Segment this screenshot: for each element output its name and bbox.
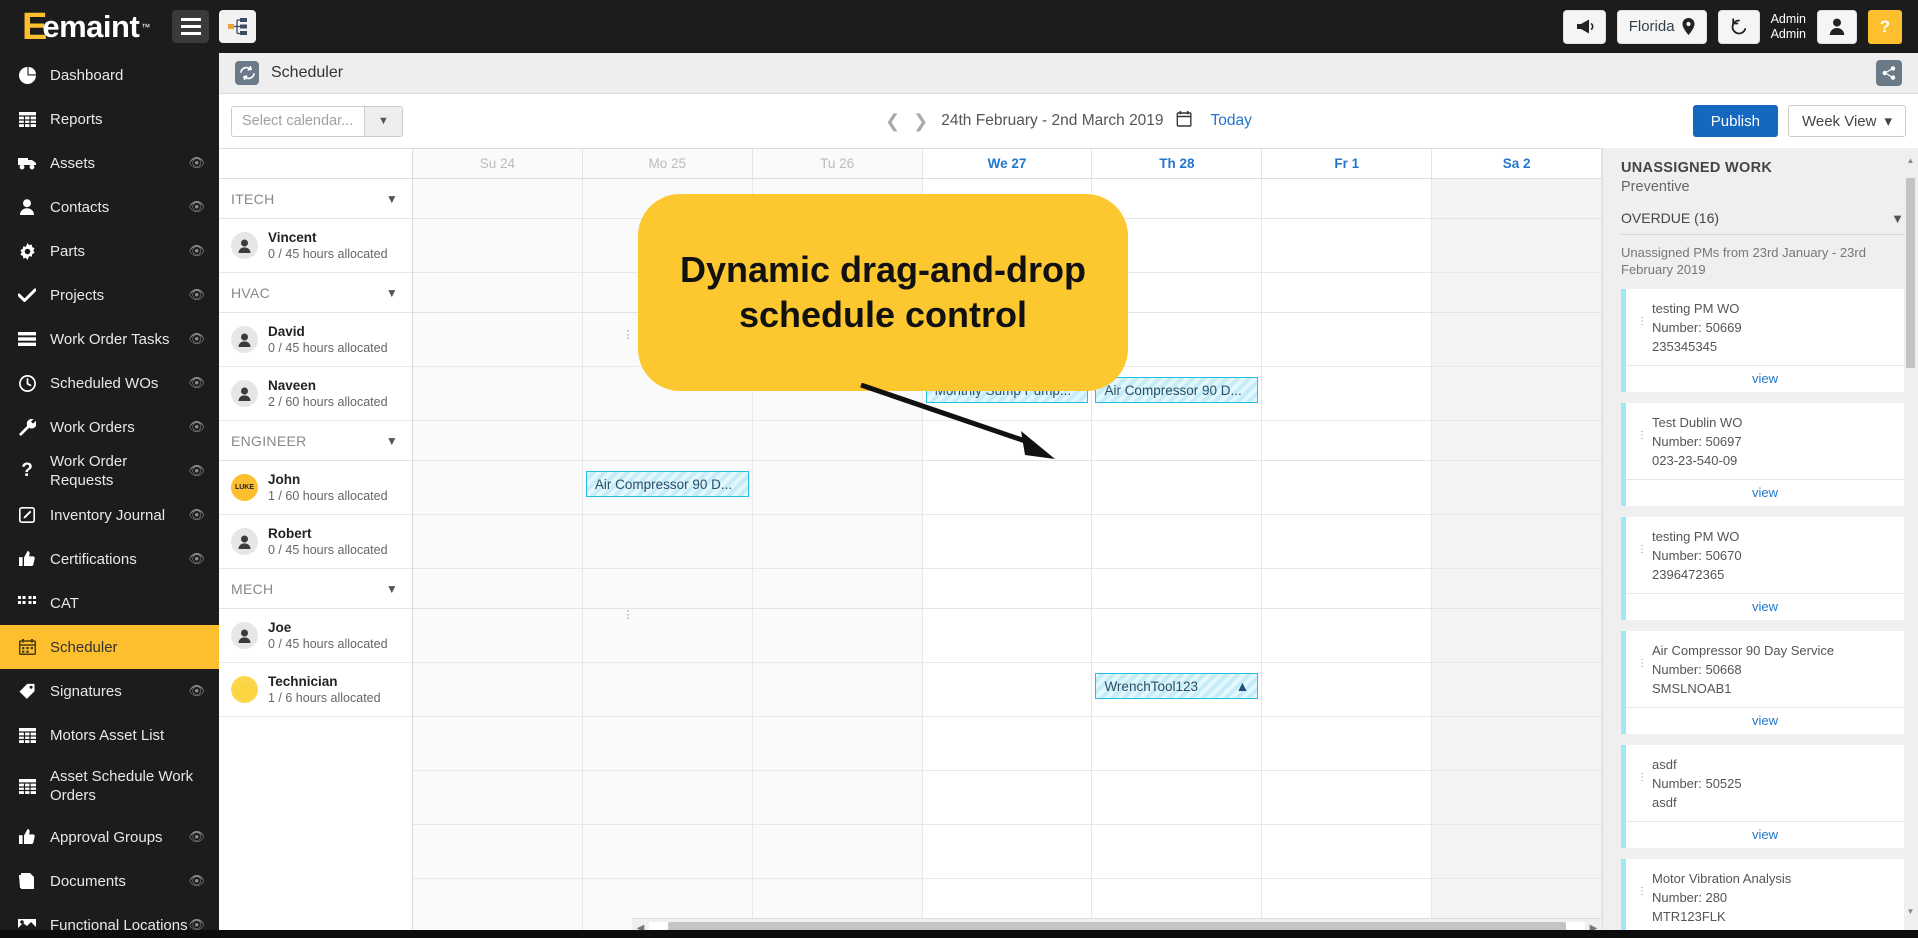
work-order-card[interactable]: ⋮ asdf Number: 50525 asdf view: [1621, 745, 1904, 848]
sidebar-item-work-order-tasks[interactable]: Work Order Tasks 👁: [0, 317, 219, 361]
grid-row-robert: [413, 515, 1602, 569]
event-chip-air-compressor-90d[interactable]: Air Compressor 90 D...: [586, 471, 749, 497]
resource-name: Joe: [268, 620, 388, 636]
grid-cell[interactable]: [1432, 219, 1602, 272]
work-order-card[interactable]: ⋮ Test Dublin WO Number: 50697 023-23-54…: [1621, 403, 1904, 506]
group-label: ENGINEER: [231, 433, 307, 449]
chevron-down-icon: ▼: [386, 434, 398, 448]
today-button[interactable]: Today: [1211, 112, 1252, 130]
grid-cell[interactable]: WrenchTool123 ▲: [1092, 663, 1262, 716]
grid-cell[interactable]: [583, 569, 753, 608]
sidebar-label: Documents: [50, 872, 188, 891]
sidebar-label: Scheduler: [50, 638, 205, 657]
sitemap-glyph: [228, 18, 248, 36]
sidebar-item-signatures[interactable]: Signatures 👁: [0, 669, 219, 713]
number-prefix: Number:: [1652, 890, 1705, 905]
grid-cell[interactable]: [583, 771, 753, 824]
grid-cell[interactable]: [413, 179, 583, 218]
grid-row-john: Air Compressor 90 D...: [413, 461, 1602, 515]
avatar: [231, 622, 258, 649]
event-title: Air Compressor 90 D...: [595, 477, 732, 492]
sidebar-navigation: Dashboard Reports Assets 👁 Contacts 👁 Pa…: [0, 53, 219, 938]
grid-cell[interactable]: [1092, 461, 1262, 514]
work-order-ref: SMSLNOAB1: [1652, 679, 1894, 698]
grid-cell[interactable]: [1262, 421, 1432, 460]
triangle-down-icon[interactable]: ▼: [1906, 907, 1915, 916]
visibility-eye-icon[interactable]: 👁: [188, 331, 205, 347]
location-selector[interactable]: Florida: [1617, 10, 1707, 44]
sidebar-label: Work Order Tasks: [50, 330, 188, 349]
work-order-card[interactable]: ⋮ testing PM WO Number: 50670 2396472365…: [1621, 517, 1904, 620]
grid-cell[interactable]: [1262, 179, 1432, 218]
grid-cell[interactable]: [413, 609, 583, 662]
documents-icon: [14, 873, 40, 889]
grid-cell[interactable]: [583, 825, 753, 878]
grid-cell[interactable]: [1432, 771, 1602, 824]
user-avatar-button[interactable]: [1817, 10, 1857, 44]
bottom-strip: [0, 930, 1918, 938]
sidebar-label: Asset Schedule Work Orders: [50, 767, 205, 805]
unassigned-work-inner: UNASSIGNED WORK Preventive OVERDUE (16) …: [1603, 148, 1918, 938]
grid-cell[interactable]: [1432, 663, 1602, 716]
page-title: Scheduler: [271, 64, 343, 82]
chevron-right-icon[interactable]: ❯: [913, 111, 928, 132]
grid-cell[interactable]: [1092, 569, 1262, 608]
grid-cell[interactable]: [1092, 515, 1262, 568]
visibility-eye-icon[interactable]: 👁: [188, 829, 205, 845]
grid-cell[interactable]: [923, 609, 1093, 662]
grid-cell[interactable]: [1262, 825, 1432, 878]
resource-name: Naveen: [268, 378, 388, 394]
resource-row-naveen[interactable]: Naveen 2 / 60 hours allocated: [219, 367, 412, 421]
resource-group-mech[interactable]: MECH ▼: [219, 569, 412, 609]
avatar: [231, 232, 258, 259]
overdue-label: OVERDUE (16): [1621, 210, 1719, 226]
view-link[interactable]: view: [1626, 479, 1904, 506]
drag-handle-icon[interactable]: ⋮: [1637, 776, 1647, 780]
number-value: 50669: [1705, 320, 1741, 335]
event-chip-wrenchtool123[interactable]: WrenchTool123 ▲: [1095, 673, 1258, 699]
unassigned-work-panel: UNASSIGNED WORK Preventive OVERDUE (16) …: [1602, 148, 1918, 938]
grid-row-empty: [413, 771, 1602, 825]
date-range-label: 24th February - 2nd March 2019: [941, 112, 1163, 130]
avatar: [231, 326, 258, 353]
warning-triangle-icon: ▲: [1235, 678, 1249, 694]
user-last-name: Admin: [1771, 27, 1806, 42]
unassigned-work-title: UNASSIGNED WORK: [1621, 160, 1904, 176]
grid-cell[interactable]: [413, 313, 583, 366]
help-button[interactable]: ?: [1868, 10, 1902, 44]
day-header-we27: We 27: [923, 149, 1093, 178]
number-value: 50668: [1705, 662, 1741, 677]
visibility-eye-icon[interactable]: 👁: [188, 873, 205, 889]
resource-row-robert[interactable]: Robert 0 / 45 hours allocated: [219, 515, 412, 569]
splitter-handle-mid[interactable]: ⋮: [625, 604, 630, 626]
app-logo[interactable]: Eemaint™: [0, 8, 150, 46]
sitemap-icon[interactable]: [219, 10, 256, 43]
avatar: [231, 528, 258, 555]
grid-cell[interactable]: [1432, 313, 1602, 366]
grid-cell[interactable]: [753, 717, 923, 770]
avatar: LUKE: [231, 474, 258, 501]
chevron-down-icon: ▼: [386, 286, 398, 300]
sidebar-item-work-order-requests[interactable]: ? Work Order Requests 👁: [0, 449, 219, 493]
drag-handle-icon[interactable]: ⋮: [1637, 434, 1647, 438]
table-icon: [14, 728, 40, 743]
resource-row-david[interactable]: David 0 / 45 hours allocated: [219, 313, 412, 367]
work-order-body: Air Compressor 90 Day Service Number: 50…: [1626, 631, 1904, 707]
sidebar-label: Contacts: [50, 198, 188, 217]
check-icon: [14, 288, 40, 302]
sidebar-label: Reports: [50, 110, 205, 129]
grid-cell[interactable]: [753, 663, 923, 716]
work-order-number: Number: 50669: [1652, 318, 1894, 337]
day-header-th28: Th 28: [1092, 149, 1262, 178]
grid-cell[interactable]: [1262, 313, 1432, 366]
work-order-body: asdf Number: 50525 asdf: [1626, 745, 1904, 821]
grid-cell[interactable]: [753, 515, 923, 568]
unassigned-work-subtitle: Preventive: [1621, 179, 1904, 195]
work-order-number: Number: 50670: [1652, 546, 1894, 565]
table-icon: [14, 112, 40, 127]
grid-cell[interactable]: [923, 771, 1093, 824]
number-value: 280: [1705, 890, 1727, 905]
hamburger-icon[interactable]: [172, 10, 209, 43]
resource-hours: 0 / 45 hours allocated: [268, 246, 388, 262]
number-prefix: Number:: [1652, 548, 1705, 563]
sidebar-item-certifications[interactable]: Certifications 👁: [0, 537, 219, 581]
grid-group-row-mech: [413, 569, 1602, 609]
grid-cell[interactable]: [923, 717, 1093, 770]
thumbs-up-icon: [14, 551, 40, 567]
grid-cell[interactable]: [1432, 273, 1602, 312]
grid-cell[interactable]: [413, 717, 583, 770]
number-prefix: Number:: [1652, 662, 1705, 677]
resource-name: Robert: [268, 526, 388, 542]
chevron-down-icon: ▼: [364, 107, 402, 136]
group-label: HVAC: [231, 285, 270, 301]
calendar-select-value: Select calendar...: [232, 107, 364, 136]
resource-row-technician[interactable]: Technician 1 / 6 hours allocated: [219, 663, 412, 717]
sidebar-label: Projects: [50, 286, 188, 305]
list-icon: [14, 332, 40, 346]
grid-cell[interactable]: [1432, 515, 1602, 568]
caret-down-icon: ▾: [1884, 112, 1892, 130]
resource-hours: 0 / 45 hours allocated: [268, 636, 388, 652]
number-prefix: Number:: [1652, 776, 1705, 791]
work-order-ref: 023-23-540-09: [1652, 451, 1894, 470]
group-label: ITECH: [231, 191, 275, 207]
grid-cell[interactable]: [1432, 569, 1602, 608]
wrench-icon: [14, 419, 40, 436]
resource-name: Vincent: [268, 230, 388, 246]
visibility-eye-icon[interactable]: 👁: [188, 243, 205, 259]
grid-cell[interactable]: [1262, 717, 1432, 770]
sidebar-item-work-orders[interactable]: Work Orders 👁: [0, 405, 219, 449]
scheduler-toolbar: Select calendar... ▼ ❮ ❯ 24th February -…: [219, 94, 1918, 148]
view-link[interactable]: view: [1626, 821, 1904, 848]
tag-icon: [14, 683, 40, 699]
grid-cell[interactable]: [1092, 771, 1262, 824]
visibility-eye-icon[interactable]: 👁: [188, 551, 205, 567]
resource-name: John: [268, 472, 388, 488]
grid-cell[interactable]: [413, 879, 583, 932]
number-prefix: Number:: [1652, 434, 1705, 449]
sidebar-label: Parts: [50, 242, 188, 261]
sidebar-label: Scheduled WOs: [50, 374, 188, 393]
grid-cell[interactable]: Air Compressor 90 D...: [583, 461, 753, 514]
grid-cell[interactable]: [1092, 421, 1262, 460]
visibility-eye-icon[interactable]: 👁: [188, 375, 205, 391]
grid-cell[interactable]: [1262, 609, 1432, 662]
sidebar-label: CAT: [50, 594, 205, 613]
grid-cell[interactable]: [1432, 179, 1602, 218]
grid-cell[interactable]: [413, 421, 583, 460]
share-icon[interactable]: [1876, 60, 1902, 86]
view-mode-dropdown[interactable]: Week View ▾: [1788, 105, 1906, 137]
work-order-body: Test Dublin WO Number: 50697 023-23-540-…: [1626, 403, 1904, 479]
grid-row-joe: [413, 609, 1602, 663]
grid-cell[interactable]: [923, 461, 1093, 514]
resource-group-hvac[interactable]: HVAC ▼: [219, 273, 412, 313]
grid-cell[interactable]: [583, 609, 753, 662]
grid-cell[interactable]: [1262, 219, 1432, 272]
view-link[interactable]: view: [1626, 707, 1904, 734]
callout-arrow: [859, 383, 1069, 463]
grid-cell[interactable]: [753, 825, 923, 878]
user-name-block: Admin Admin: [1771, 12, 1806, 42]
work-order-ref: 235345345: [1652, 337, 1894, 356]
sidebar-label: Approval Groups: [50, 828, 188, 847]
grid-cell[interactable]: [753, 569, 923, 608]
sidebar-item-dashboard[interactable]: Dashboard: [0, 53, 219, 97]
grid-dots-icon: [14, 596, 40, 610]
resource-group-itech[interactable]: ITECH ▼: [219, 179, 412, 219]
panel-scrollbar[interactable]: ▲ ▼: [1906, 156, 1915, 916]
work-order-number: Number: 50668: [1652, 660, 1894, 679]
location-label: Florida: [1629, 18, 1675, 35]
grid-cell[interactable]: [1262, 515, 1432, 568]
grid-cell[interactable]: [1262, 569, 1432, 608]
grid-cell[interactable]: [1262, 273, 1432, 312]
grid-cell[interactable]: [923, 825, 1093, 878]
resource-group-engineer[interactable]: ENGINEER ▼: [219, 421, 412, 461]
main-content: Scheduler Select calendar... ▼ ❮ ❯ 24th …: [219, 53, 1918, 938]
chevron-left-icon[interactable]: ❮: [885, 111, 900, 132]
drag-handle-icon[interactable]: ⋮: [1637, 662, 1647, 666]
resource-hours: 1 / 6 hours allocated: [268, 690, 381, 706]
day-header-sa2: Sa 2: [1432, 149, 1602, 178]
grid-cell[interactable]: [1092, 825, 1262, 878]
sidebar-label: Dashboard: [50, 66, 205, 85]
thumbs-up-icon: [14, 829, 40, 845]
day-header-fr1: Fr 1: [1262, 149, 1432, 178]
work-order-number: Number: 50697: [1652, 432, 1894, 451]
day-header-tu26: Tu 26: [753, 149, 923, 178]
work-order-ref: 2396472365: [1652, 565, 1894, 584]
callout-bubble: Dynamic drag-and-drop schedule control: [638, 194, 1128, 391]
grid-cell[interactable]: [413, 273, 583, 312]
splitter-handle-top[interactable]: ⋮: [625, 324, 630, 346]
logo-wordmark: emaint: [42, 11, 139, 42]
grid-cell[interactable]: [1432, 461, 1602, 514]
grid-cell[interactable]: [413, 219, 583, 272]
calendar-icon: [14, 639, 40, 655]
event-chip-air-compressor-90d[interactable]: Air Compressor 90 D...: [1095, 377, 1258, 403]
work-order-card[interactable]: ⋮ testing PM WO Number: 50669 235345345 …: [1621, 289, 1904, 392]
grid-cell[interactable]: [753, 461, 923, 514]
grid-cell[interactable]: [583, 421, 753, 460]
resource-row-vincent[interactable]: Vincent 0 / 45 hours allocated: [219, 219, 412, 273]
user-icon: [1829, 18, 1845, 35]
triangle-up-icon[interactable]: ▲: [1906, 156, 1915, 165]
megaphone-icon[interactable]: [1563, 10, 1606, 44]
grid-cell[interactable]: [1262, 663, 1432, 716]
person-icon: [14, 199, 40, 215]
scroll-thumb[interactable]: [1906, 178, 1915, 368]
chevron-down-icon: ▼: [386, 192, 398, 206]
grid-cell[interactable]: [1262, 771, 1432, 824]
sidebar-item-parts[interactable]: Parts 👁: [0, 229, 219, 273]
grid-cell[interactable]: [1432, 421, 1602, 460]
grid-cell[interactable]: [1262, 461, 1432, 514]
page-header: Scheduler: [219, 53, 1918, 94]
grid-cell[interactable]: [1092, 609, 1262, 662]
grid-cell[interactable]: [413, 825, 583, 878]
number-value: 50525: [1705, 776, 1741, 791]
avatar: [231, 676, 258, 703]
work-order-number: Number: 280: [1652, 888, 1894, 907]
sidebar-label: Inventory Journal: [50, 506, 188, 525]
grid-cell[interactable]: [413, 771, 583, 824]
truck-icon: [14, 156, 40, 170]
number-prefix: Number:: [1652, 320, 1705, 335]
overdue-section-toggle[interactable]: OVERDUE (16) ▼: [1621, 210, 1904, 235]
sidebar-item-documents[interactable]: Documents 👁: [0, 859, 219, 903]
sidebar-item-projects[interactable]: Projects 👁: [0, 273, 219, 317]
visibility-eye-icon[interactable]: 👁: [188, 287, 205, 303]
grid-cell[interactable]: [923, 515, 1093, 568]
chevron-down-icon: ▼: [1891, 211, 1904, 226]
map-pin-icon: [1682, 18, 1695, 35]
history-icon[interactable]: [1718, 10, 1760, 44]
event-title: Air Compressor 90 D...: [1104, 383, 1241, 398]
day-header-mo25: Mo 25: [583, 149, 753, 178]
sidebar-item-inventory-journal[interactable]: Inventory Journal 👁: [0, 493, 219, 537]
grid-cell[interactable]: [753, 771, 923, 824]
calendar-select[interactable]: Select calendar... ▼: [231, 106, 403, 137]
visibility-eye-icon[interactable]: 👁: [188, 199, 205, 215]
calendar-picker-icon[interactable]: [1177, 111, 1192, 131]
sidebar-label: Assets: [50, 154, 188, 173]
sidebar-item-scheduler[interactable]: Scheduler: [0, 625, 219, 669]
work-order-body: testing PM WO Number: 50669 235345345: [1626, 289, 1904, 365]
grid-cell[interactable]: [413, 569, 583, 608]
grid-cell[interactable]: [1432, 717, 1602, 770]
sidebar-item-approval-groups[interactable]: Approval Groups 👁: [0, 815, 219, 859]
work-order-number: Number: 50525: [1652, 774, 1894, 793]
gear-icon: [14, 243, 40, 260]
resource-column: ITECH ▼ Vincent 0 / 45 hours allocated H…: [219, 149, 413, 938]
grid-cell[interactable]: [753, 609, 923, 662]
logo-trademark: ™: [141, 22, 150, 32]
work-order-card[interactable]: ⋮ Air Compressor 90 Day Service Number: …: [1621, 631, 1904, 734]
number-value: 50697: [1705, 434, 1741, 449]
visibility-eye-icon[interactable]: 👁: [188, 463, 205, 479]
grid-cell[interactable]: [583, 717, 753, 770]
drag-handle-icon[interactable]: ⋮: [1637, 320, 1647, 324]
grid-cell[interactable]: [1262, 367, 1432, 420]
publish-button[interactable]: Publish: [1693, 105, 1778, 137]
grid-row-technician: WrenchTool123 ▲: [413, 663, 1602, 717]
grid-cell[interactable]: [413, 367, 583, 420]
grid-cell[interactable]: [413, 461, 583, 514]
work-order-ref: asdf: [1652, 793, 1894, 812]
grid-cell[interactable]: [583, 515, 753, 568]
sidebar-item-reports[interactable]: Reports: [0, 97, 219, 141]
clock-icon: [14, 375, 40, 392]
sidebar-item-contacts[interactable]: Contacts 👁: [0, 185, 219, 229]
grid-cell[interactable]: [923, 663, 1093, 716]
avatar: [231, 380, 258, 407]
work-order-ref: MTR123FLK: [1652, 907, 1894, 926]
resource-row-joe[interactable]: Joe 0 / 45 hours allocated: [219, 609, 412, 663]
day-header-row: Su 24 Mo 25 Tu 26 We 27 Th 28 Fr 1 Sa 2: [413, 149, 1602, 179]
resource-row-john[interactable]: LUKE John 1 / 60 hours allocated: [219, 461, 412, 515]
view-link[interactable]: view: [1626, 365, 1904, 392]
grid-cell[interactable]: [413, 663, 583, 716]
sidebar-item-scheduled-wos[interactable]: Scheduled WOs 👁: [0, 361, 219, 405]
grid-cell[interactable]: [413, 515, 583, 568]
resource-name: David: [268, 324, 388, 340]
grid-cell[interactable]: [1432, 609, 1602, 662]
unassigned-note: Unassigned PMs from 23rd January - 23rd …: [1621, 244, 1904, 278]
drag-handle-icon[interactable]: ⋮: [1637, 890, 1647, 894]
sidebar-item-asset-schedule-work-orders[interactable]: Asset Schedule Work Orders: [0, 757, 219, 815]
resource-hours: 0 / 45 hours allocated: [268, 340, 388, 356]
grid-cell[interactable]: [583, 663, 753, 716]
grid-cell[interactable]: [1092, 717, 1262, 770]
visibility-eye-icon[interactable]: 👁: [188, 507, 205, 523]
visibility-eye-icon[interactable]: 👁: [188, 683, 205, 699]
visibility-eye-icon[interactable]: 👁: [188, 155, 205, 171]
grid-row-empty: [413, 825, 1602, 879]
view-link[interactable]: view: [1626, 593, 1904, 620]
grid-cell[interactable]: [1432, 825, 1602, 878]
view-mode-label: Week View: [1802, 113, 1876, 130]
sidebar-item-assets[interactable]: Assets 👁: [0, 141, 219, 185]
drag-handle-icon[interactable]: ⋮: [1637, 548, 1647, 552]
event-title: WrenchTool123: [1104, 679, 1198, 694]
sidebar-label: Certifications: [50, 550, 188, 569]
sidebar-label: Motors Asset List: [50, 726, 205, 745]
work-order-card[interactable]: ⋮ Motor Vibration Analysis Number: 280 M…: [1621, 859, 1904, 938]
sidebar-item-motors-asset-list[interactable]: Motors Asset List: [0, 713, 219, 757]
sidebar-label: Work Order Requests: [50, 452, 188, 490]
work-order-title: asdf: [1652, 755, 1894, 774]
grid-cell[interactable]: [923, 569, 1093, 608]
table-icon: [14, 779, 40, 794]
group-label: MECH: [231, 581, 273, 597]
sidebar-item-cat[interactable]: CAT: [0, 581, 219, 625]
grid-cell[interactable]: [1432, 367, 1602, 420]
work-order-body: Motor Vibration Analysis Number: 280 MTR…: [1626, 859, 1904, 935]
work-order-title: testing PM WO: [1652, 527, 1894, 546]
sidebar-label: Signatures: [50, 682, 188, 701]
toolbar-actions: Publish Week View ▾: [1693, 105, 1906, 137]
work-order-title: Test Dublin WO: [1652, 413, 1894, 432]
visibility-eye-icon[interactable]: 👁: [188, 419, 205, 435]
